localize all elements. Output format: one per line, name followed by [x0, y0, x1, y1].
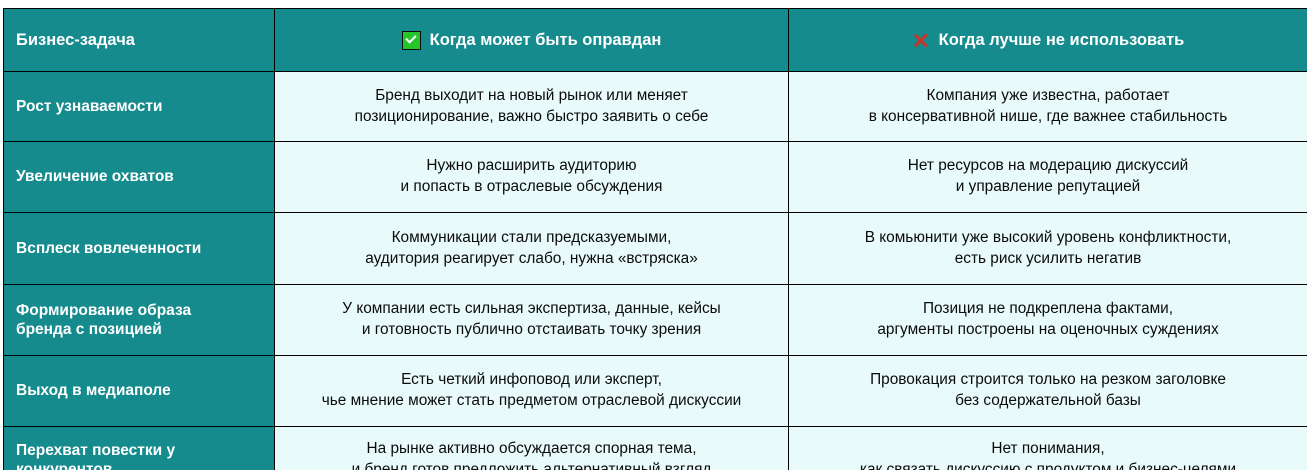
row-task-label: Рост узнаваемости: [4, 72, 275, 142]
cross-mark-icon: [912, 31, 930, 49]
row-task-text: конкурентов: [16, 460, 264, 470]
comparison-table-container: Бизнес-задача Когда может быть оправдан …: [3, 8, 1307, 470]
table-row: Увеличение охватов Нужно расширить аудит…: [4, 142, 1308, 213]
cell-line: и бренд готов предложить альтернативный …: [282, 460, 781, 470]
cell-line: и управление репутацией: [796, 177, 1300, 198]
cell-line: чье мнение может стать предметом отрасле…: [282, 391, 781, 412]
cell-line: как связать дискуссию с продуктом и бизн…: [796, 460, 1300, 470]
row-justified-cell: Бренд выходит на новый рынок или меняет …: [275, 72, 789, 142]
row-justified-cell: Коммуникации стали предсказуемыми, аудит…: [275, 213, 789, 285]
cell-line: и готовность публично отстаивать точку з…: [282, 320, 781, 341]
cell-line: аудитория реагирует слабо, нужна «встряс…: [282, 249, 781, 270]
cell-line: В комьюнити уже высокий уровень конфликт…: [796, 228, 1300, 249]
row-justified-cell: У компании есть сильная экспертиза, данн…: [275, 285, 789, 356]
cell-line: без содержательной базы: [796, 391, 1300, 412]
cell-line: Есть четкий инфоповод или эксперт,: [282, 370, 781, 391]
cell-line: Нет понимания,: [796, 439, 1300, 460]
row-avoid-cell: Позиция не подкреплена фактами, аргумент…: [789, 285, 1308, 356]
cell-line: Провокация строится только на резком заг…: [796, 370, 1300, 391]
cell-line: Нужно расширить аудиторию: [282, 156, 781, 177]
table-row: Выход в медиаполе Есть четкий инфоповод …: [4, 356, 1308, 427]
row-avoid-cell: Компания уже известна, работает в консер…: [789, 72, 1308, 142]
column-header-avoid: Когда лучше не использовать: [789, 9, 1308, 72]
column-header-business-task: Бизнес-задача: [4, 9, 275, 72]
row-task-text: Всплеск вовлеченности: [16, 239, 264, 258]
cell-line: Нет ресурсов на модерацию дискуссий: [796, 156, 1300, 177]
table-row: Всплеск вовлеченности Коммуникации стали…: [4, 213, 1308, 285]
row-task-label: Увеличение охватов: [4, 142, 275, 213]
column-header-business-task-label: Бизнес-задача: [16, 31, 135, 49]
cell-line: На рынке активно обсуждается спорная тем…: [282, 439, 781, 460]
row-avoid-cell: Нет понимания, как связать дискуссию с п…: [789, 427, 1308, 470]
column-header-justified-label: Когда может быть оправдан: [430, 31, 662, 50]
row-task-label: Всплеск вовлеченности: [4, 213, 275, 285]
check-box-icon: [402, 31, 421, 50]
row-justified-cell: Есть четкий инфоповод или эксперт, чье м…: [275, 356, 789, 427]
row-task-text: Формирование образа: [16, 301, 264, 320]
row-avoid-cell: Нет ресурсов на модерацию дискуссий и уп…: [789, 142, 1308, 213]
table-row: Формирование образа бренда с позицией У …: [4, 285, 1308, 356]
row-task-text: Рост узнаваемости: [16, 97, 264, 116]
cell-line: аргументы построены на оценочных суждени…: [796, 320, 1300, 341]
table-header-row: Бизнес-задача Когда может быть оправдан …: [4, 9, 1308, 72]
cell-line: есть риск усилить негатив: [796, 249, 1300, 270]
cell-line: Позиция не подкреплена фактами,: [796, 299, 1300, 320]
row-task-text: Увеличение охватов: [16, 167, 264, 186]
row-justified-cell: На рынке активно обсуждается спорная тем…: [275, 427, 789, 470]
row-task-label: Перехват повестки у конкурентов: [4, 427, 275, 470]
row-task-label: Формирование образа бренда с позицией: [4, 285, 275, 356]
row-avoid-cell: В комьюнити уже высокий уровень конфликт…: [789, 213, 1308, 285]
cell-line: Коммуникации стали предсказуемыми,: [282, 228, 781, 249]
row-task-text: бренда с позицией: [16, 320, 264, 339]
table-row: Перехват повестки у конкурентов На рынке…: [4, 427, 1308, 470]
cell-line: позиционирование, важно быстро заявить о…: [282, 107, 781, 128]
cell-line: Бренд выходит на новый рынок или меняет: [282, 86, 781, 107]
row-avoid-cell: Провокация строится только на резком заг…: [789, 356, 1308, 427]
row-justified-cell: Нужно расширить аудиторию и попасть в от…: [275, 142, 789, 213]
row-task-label: Выход в медиаполе: [4, 356, 275, 427]
column-header-avoid-label: Когда лучше не использовать: [939, 31, 1185, 50]
cell-line: в консервативной нише, где важнее стабил…: [796, 107, 1300, 128]
table-row: Рост узнаваемости Бренд выходит на новый…: [4, 72, 1308, 142]
column-header-justified: Когда может быть оправдан: [275, 9, 789, 72]
cell-line: Компания уже известна, работает: [796, 86, 1300, 107]
business-task-comparison-table: Бизнес-задача Когда может быть оправдан …: [3, 8, 1307, 470]
cell-line: У компании есть сильная экспертиза, данн…: [282, 299, 781, 320]
cell-line: и попасть в отраслевые обсуждения: [282, 177, 781, 198]
row-task-text: Выход в медиаполе: [16, 381, 264, 400]
row-task-text: Перехват повестки у: [16, 441, 264, 460]
